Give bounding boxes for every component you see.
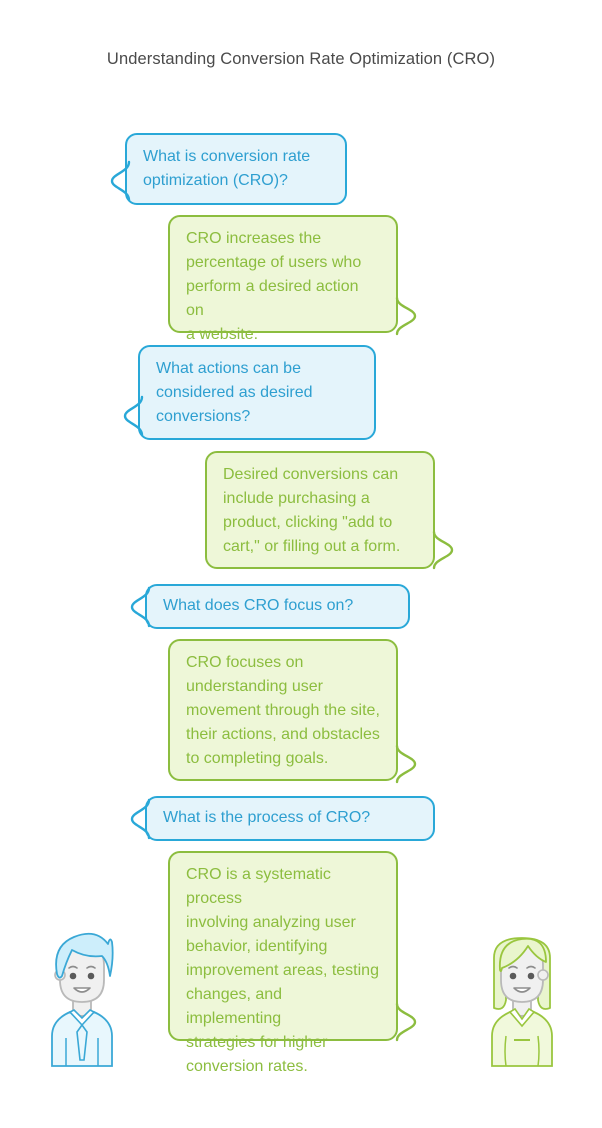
chat-bubble-text: What actions can be considered as desire… (156, 357, 358, 429)
page-title: Understanding Conversion Rate Optimizati… (0, 50, 602, 69)
avatar-left-male (40, 928, 124, 1068)
chat-bubble-text: CRO increases the percentage of users wh… (186, 227, 380, 347)
chat-bubble-answer-3[interactable]: CRO focuses on understanding user moveme… (168, 639, 398, 781)
avatar-right-female (480, 928, 564, 1068)
chat-bubble-text: CRO is a systematic process involving an… (186, 863, 380, 1079)
chat-bubble-text: What is conversion rate optimization (CR… (143, 145, 329, 193)
chat-bubble-text: What does CRO focus on? (163, 594, 392, 618)
chat-bubble-question-1[interactable]: What is conversion rate optimization (CR… (125, 133, 347, 205)
chat-bubble-answer-1[interactable]: CRO increases the percentage of users wh… (168, 215, 398, 333)
chat-bubble-question-4[interactable]: What is the process of CRO? (145, 796, 435, 841)
chat-bubble-text: Desired conversions can include purchasi… (223, 463, 417, 559)
chat-bubble-question-2[interactable]: What actions can be considered as desire… (138, 345, 376, 440)
chat-bubble-text: CRO focuses on understanding user moveme… (186, 651, 380, 771)
chat-bubble-answer-4[interactable]: CRO is a systematic process involving an… (168, 851, 398, 1041)
chat-bubble-question-3[interactable]: What does CRO focus on? (145, 584, 410, 629)
chat-bubble-answer-2[interactable]: Desired conversions can include purchasi… (205, 451, 435, 569)
chat-bubble-text: What is the process of CRO? (163, 806, 417, 830)
